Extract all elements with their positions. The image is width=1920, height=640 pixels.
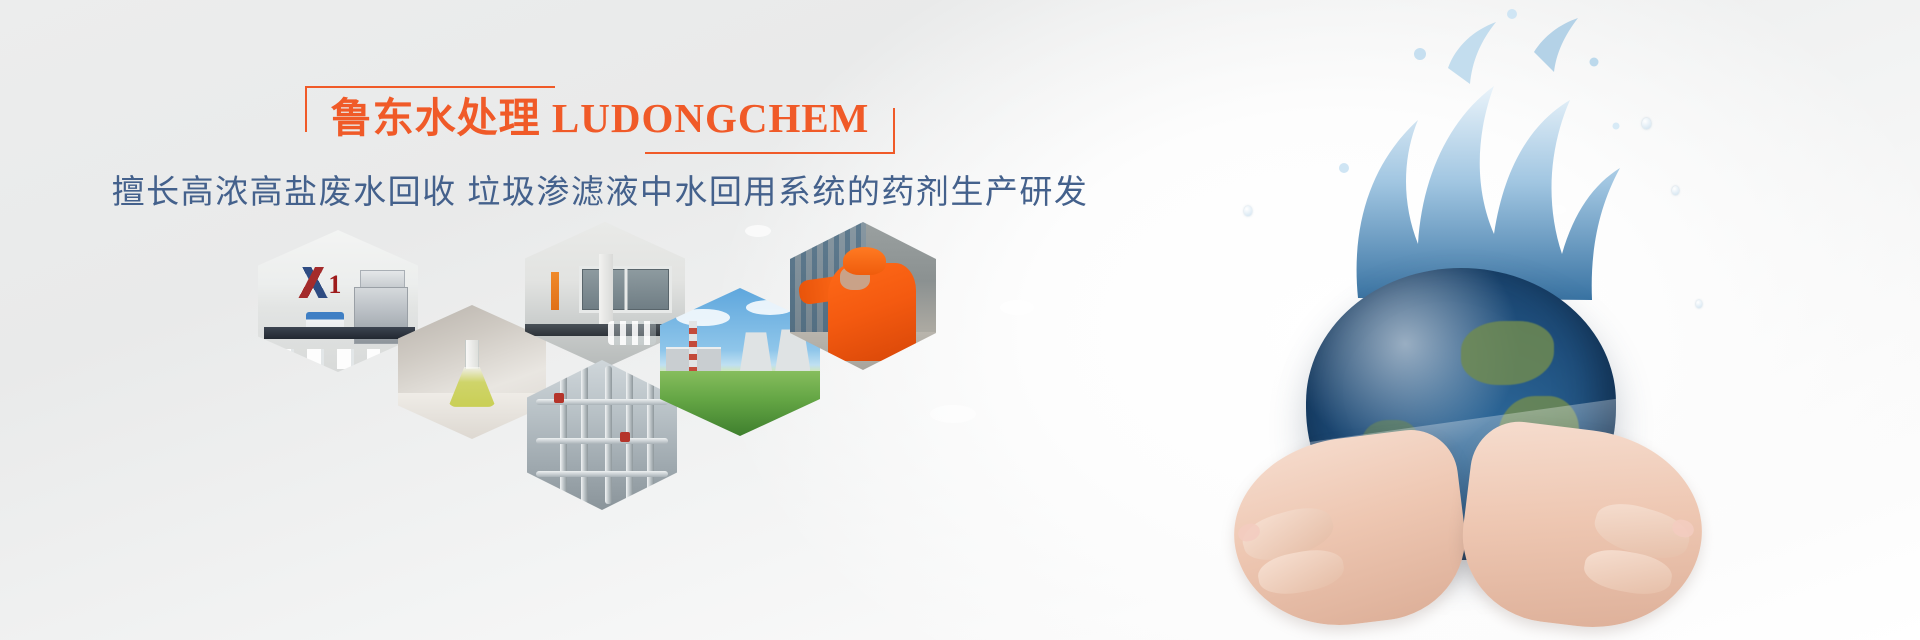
brand-headline: 鲁东水处理 LUDONGCHEM [331,92,870,144]
left-hand [1224,425,1475,638]
banner-text-block: 鲁东水处理 LUDONGCHEM 擅长高浓高盐废水回收 垃圾渗滤液中水回用系统的… [0,86,1200,215]
headline-frame: 鲁东水处理 LUDONGCHEM [305,86,896,154]
bokeh-droplet [1548,205,1566,214]
hex-photo-flask-sample[interactable] [398,305,546,439]
banner-subtitle: 擅长高浓高盐废水回收 垃圾渗滤液中水回用系统的药剂生产研发 [0,170,1200,215]
hero-banner: 鲁东水处理 LUDONGCHEM 擅长高浓高盐废水回收 垃圾渗滤液中水回用系统的… [0,0,1920,640]
droplet-icon [1244,206,1252,216]
hands-holding-water-globe [1210,0,1770,640]
water-globe [1306,268,1616,560]
bokeh-droplet [1000,300,1034,315]
water-splash-icon [1298,8,1628,308]
hands [1232,402,1702,632]
right-hand [1453,416,1713,640]
droplet-icon [1696,300,1702,308]
droplet-icon [1642,118,1651,129]
droplet-icon [1672,186,1679,195]
photo-flask-sample [398,305,546,439]
photo-industrial-pipework [527,360,677,510]
hex-photo-laboratory-interior[interactable]: 1 [258,230,418,372]
bokeh-droplet [930,405,976,423]
photo-laboratory-interior: 1 [258,230,418,372]
hex-photo-industrial-pipework[interactable] [527,360,677,510]
bokeh-droplet [745,225,771,237]
